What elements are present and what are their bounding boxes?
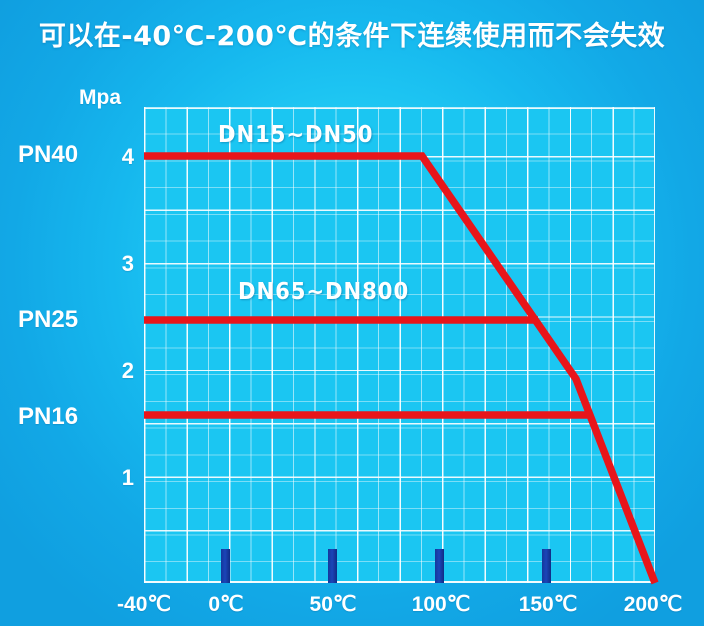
y-axis-unit-label: Mpa: [79, 86, 121, 110]
x-tick-50: 50℃: [288, 592, 378, 617]
y-tick-2: 2: [100, 358, 134, 384]
x-tick-200: 200℃: [608, 592, 698, 617]
y-tick-3: 3: [100, 251, 134, 277]
y-tick-1: 1: [100, 465, 134, 491]
x-tick-150: 150℃: [503, 592, 593, 617]
x-tick-minus40: -40℃: [99, 592, 189, 617]
x-tick-100: 100℃: [396, 592, 486, 617]
page-title: 可以在-40℃-200℃的条件下连续使用而不会失效: [0, 14, 704, 53]
plot-area: DN15~DN50 DN65~DN800: [144, 107, 655, 583]
curves-layer: [144, 107, 655, 583]
series-dn15-dn50-curve: [144, 156, 655, 583]
x-tick-0: 0℃: [181, 592, 271, 617]
pn40-label: PN40: [18, 141, 110, 169]
pn16-label: PN16: [18, 403, 110, 431]
chart-canvas: 可以在-40℃-200℃的条件下连续使用而不会失效 Mpa 4 3 2 1 PN…: [0, 0, 704, 626]
series-label-dn15-dn50: DN15~DN50: [218, 122, 373, 148]
pn25-label: PN25: [18, 306, 110, 334]
series-label-dn65-dn800: DN65~DN800: [238, 279, 409, 305]
